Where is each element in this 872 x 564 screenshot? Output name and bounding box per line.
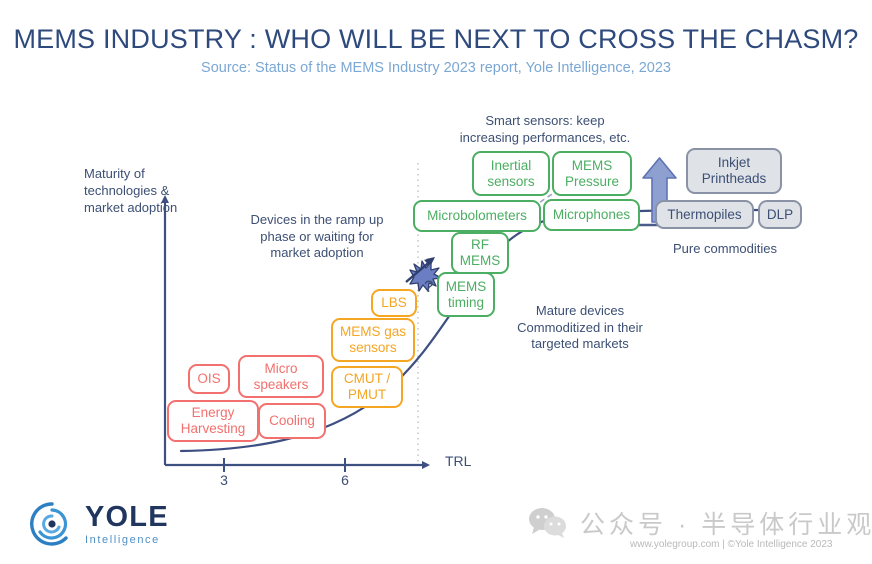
- wechat-watermark: 公众号 · 半导体行业观察: [528, 505, 872, 541]
- yole-logo: YOLE Intelligence: [28, 500, 169, 548]
- node-box-inkjet-printheads[interactable]: Inkjet Printheads: [686, 148, 782, 194]
- node-box-lbs[interactable]: LBS: [371, 289, 417, 317]
- page-subtitle: Source: Status of the MEMS Industry 2023…: [0, 60, 872, 76]
- watermark-text: 公众号 · 半导体行业观察: [580, 505, 872, 541]
- annotation-pure-commodities: Pure commodities: [660, 241, 790, 258]
- x-tick-label-3: 3: [212, 472, 236, 488]
- annotation-mature-devices: Mature devices Commoditized in their tar…: [492, 303, 668, 353]
- chart-vector-layer: [0, 0, 872, 564]
- node-box-dlp[interactable]: DLP: [758, 200, 802, 229]
- node-box-ois[interactable]: OIS: [188, 364, 230, 394]
- node-box-micro-speakers[interactable]: Micro speakers: [238, 355, 324, 398]
- x-tick-label-6: 6: [333, 472, 357, 488]
- node-box-energy-harvesting[interactable]: Energy Harvesting: [167, 400, 259, 442]
- node-box-cooling[interactable]: Cooling: [258, 403, 326, 439]
- slide-canvas: MEMS INDUSTRY : WHO WILL BE NEXT TO CROS…: [0, 0, 872, 564]
- node-box-mems-pressure[interactable]: MEMS Pressure: [552, 151, 632, 196]
- question-mark-label: ?: [424, 277, 433, 297]
- y-axis-label: Maturity of technologies & market adopti…: [84, 166, 177, 217]
- node-box-mems-gas-sensors[interactable]: MEMS gas sensors: [331, 318, 415, 362]
- logo-wordmark: YOLE: [85, 503, 169, 532]
- node-box-mems-timing[interactable]: MEMS timing: [437, 272, 495, 317]
- node-box-cmut-pmut[interactable]: CMUT / PMUT: [331, 366, 403, 408]
- copyright-text: www.yolegroup.com | ©Yole Intelligence 2…: [630, 539, 833, 550]
- page-title: MEMS INDUSTRY : WHO WILL BE NEXT TO CROS…: [0, 24, 872, 55]
- annotation-ramp-up: Devices in the ramp up phase or waiting …: [224, 212, 410, 262]
- logo-tagline: Intelligence: [85, 535, 169, 546]
- x-axis-label: TRL: [445, 453, 471, 469]
- node-box-microphones[interactable]: Microphones: [543, 199, 640, 231]
- node-box-rf-mems[interactable]: RF MEMS: [451, 232, 509, 274]
- yole-spiral-icon: [28, 500, 76, 548]
- annotation-smart-sensors: Smart sensors: keep increasing performan…: [435, 113, 655, 146]
- node-box-microbolometers[interactable]: Microbolometers: [413, 200, 541, 232]
- wechat-icon: [528, 507, 568, 539]
- node-box-thermopiles[interactable]: Thermopiles: [655, 200, 754, 229]
- node-box-inertial-sensors[interactable]: Inertial sensors: [472, 151, 550, 196]
